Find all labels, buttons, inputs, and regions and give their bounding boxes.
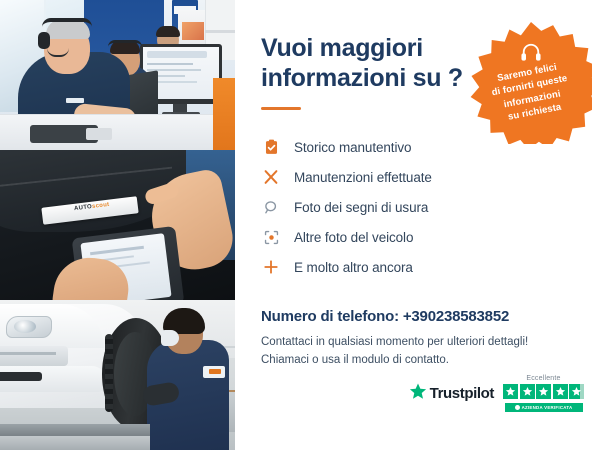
star-filled (520, 384, 535, 399)
contact-line-2: Chiamaci o usa il modulo di contatto. (261, 352, 578, 370)
list-item-label: Foto dei segni di usura (294, 200, 428, 215)
trustpilot-rating: Eccellente (503, 375, 584, 412)
list-item-label: Manutenzioni effettuate (294, 170, 432, 185)
background-headset-2 (108, 40, 142, 47)
feature-list: Storico manutentivo Manutenzioni effettu… (261, 132, 578, 282)
polo-logo (66, 98, 84, 103)
callout-badge: Saremo felici di fornirti queste informa… (470, 22, 592, 144)
monitor-ui-line (147, 63, 193, 65)
face-mask (161, 330, 179, 346)
headset-icon (520, 42, 542, 62)
promo-card: AUTOscout (0, 0, 600, 450)
list-item-label: Storico manutentivo (294, 140, 411, 155)
bumper-vent (0, 372, 42, 381)
uniform-badge-mark (209, 369, 221, 374)
star-filled (503, 384, 518, 399)
shelf-divider (205, 30, 235, 33)
plus-icon (261, 257, 281, 277)
list-item[interactable]: Manutenzioni effettuate (261, 162, 578, 192)
title-line-2: informazioni su ? (261, 64, 463, 92)
verified-check-icon (515, 405, 520, 410)
car-lift-lower (0, 436, 150, 450)
headset-earcup (38, 32, 50, 49)
headlight-lens (14, 320, 36, 333)
monitor-ui-bar (147, 51, 207, 58)
scan-frame-icon (261, 227, 281, 247)
photo-column: AUTOscout (0, 0, 235, 450)
poster-image (182, 22, 204, 40)
desk-item-2 (86, 128, 112, 140)
background-hair-3 (156, 26, 180, 37)
page-title: Vuoi maggiori informazioni su ? (261, 34, 471, 93)
headset-band (42, 18, 92, 27)
phone-label: Numero di telefono: (261, 308, 399, 325)
phone-line: Numero di telefono: +390238583852 (261, 308, 578, 325)
vehicle-inspection-photo: AUTOscout (0, 150, 235, 300)
trustpilot-star-icon (409, 383, 427, 405)
trustpilot-widget[interactable]: Trustpilot Eccellente (409, 375, 584, 412)
workshop-wheel-photo (0, 300, 235, 450)
list-item[interactable]: Altre foto del veicolo (261, 222, 578, 252)
verified-badge: AZIENDA VERIFICATA (505, 403, 583, 412)
tyre-tread (105, 334, 113, 412)
title-line-1: Vuoi maggiori (261, 34, 423, 62)
contact-line-1: Contattaci in qualsiasi momento per ulte… (261, 334, 578, 352)
list-item[interactable]: E molto altro ancora (261, 252, 578, 282)
list-item[interactable]: Foto dei segni di usura (261, 192, 578, 222)
star-half (569, 384, 584, 399)
clipboard-check-icon (261, 137, 281, 157)
list-item-label: E molto altro ancora (294, 260, 413, 275)
verified-label: AZIENDA VERIFICATA (522, 405, 573, 410)
orange-panel (213, 78, 235, 150)
front-grille (0, 346, 68, 366)
list-item-label: Altre foto del veicolo (294, 230, 413, 245)
trustpilot-logo: Trustpilot (409, 383, 494, 405)
title-underline (261, 107, 301, 110)
contact-description: Contattaci in qualsiasi momento per ulte… (261, 334, 578, 370)
crossed-tools-icon (261, 167, 281, 187)
content-panel: Vuoi maggiori informazioni su ? Saremo f… (235, 0, 600, 450)
phone-number[interactable]: +390238583852 (403, 308, 509, 325)
star-filled (553, 384, 568, 399)
call-center-operator-photo (0, 0, 235, 150)
star-rating (503, 384, 584, 399)
star-filled (536, 384, 551, 399)
trustpilot-brand-name: Trustpilot (430, 385, 494, 402)
rating-label: Eccellente (526, 375, 560, 382)
magnifier-icon (261, 197, 281, 217)
grille-bar (0, 352, 56, 355)
